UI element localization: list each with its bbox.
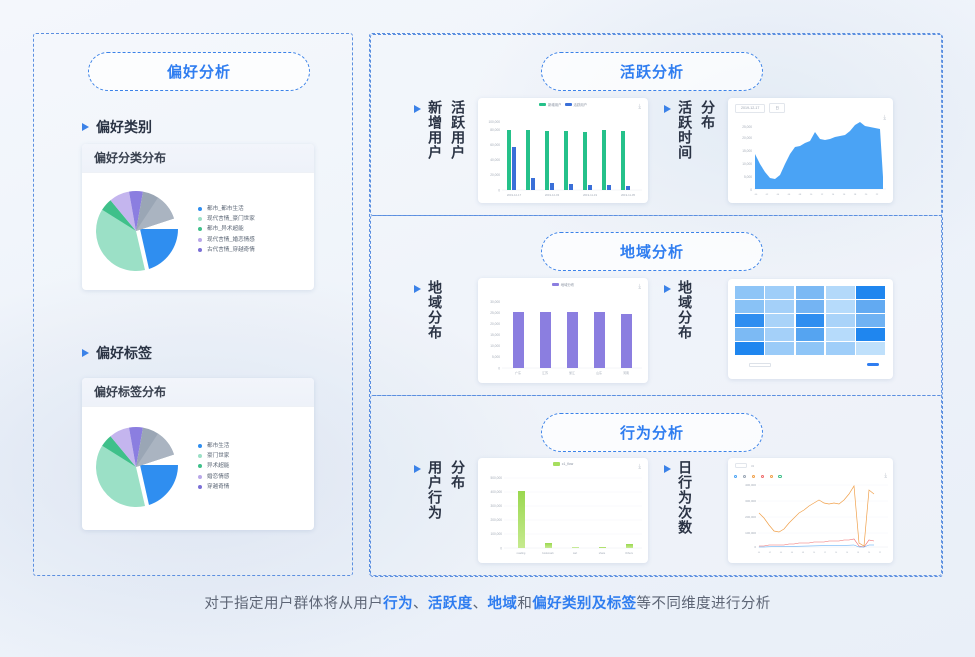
svg-text:Others: Others xyxy=(625,551,633,555)
triangle-bullet-icon xyxy=(664,285,671,293)
region-bar-chart: 地域分布 ⤓ 0 5,000 10,000 15,000 20,000 25,0… xyxy=(478,278,648,383)
svg-text:30,000: 30,000 xyxy=(490,300,500,304)
legend-item: 古代言情_穿越奇情 xyxy=(198,247,314,253)
svg-text:0: 0 xyxy=(498,367,500,371)
triangle-bullet-icon xyxy=(664,105,671,113)
svg-text:bookmark: bookmark xyxy=(542,551,554,555)
legend-entry[interactable] xyxy=(743,475,748,478)
active-time-area-chart: 2019-12-17 日 ⤓ 0 5,000 10,000 15,000 20,… xyxy=(728,98,893,203)
svg-text:10: 10 xyxy=(813,552,816,554)
svg-text:04: 04 xyxy=(780,552,783,554)
svg-text:0: 0 xyxy=(754,545,756,549)
caption-highlight: 偏好类别及标签 xyxy=(532,596,636,612)
legend-label: c1_flow xyxy=(562,462,574,466)
legend-item: 豪门世家 xyxy=(198,453,314,459)
heat-cell xyxy=(826,300,855,313)
triangle-bullet-icon xyxy=(664,465,671,473)
svg-text:2019-11-19: 2019-11-19 xyxy=(583,193,598,197)
svg-text:20,000: 20,000 xyxy=(490,173,500,177)
triangle-bullet-icon xyxy=(414,285,421,293)
svg-text:reading: reading xyxy=(517,551,526,555)
svg-text:share: share xyxy=(599,551,606,555)
heat-cell xyxy=(856,328,885,341)
bars-green xyxy=(518,491,633,548)
svg-text:80,000: 80,000 xyxy=(490,128,500,132)
legend-dot-icon xyxy=(198,464,202,468)
legend-item: 都市生活 xyxy=(198,443,314,449)
heat-cell xyxy=(735,286,764,299)
pie-svg xyxy=(82,407,194,519)
svg-text:0: 0 xyxy=(498,189,500,193)
chart-legend: ⤓ xyxy=(734,473,887,480)
heat-cell xyxy=(765,328,794,341)
svg-text:18: 18 xyxy=(857,552,860,554)
svg-text:02: 02 xyxy=(766,194,769,196)
calendar-icon[interactable]: ▭ xyxy=(751,464,754,468)
heat-cell xyxy=(826,342,855,355)
pie-slice-0 xyxy=(140,229,178,269)
preference-category-pie-chart xyxy=(82,173,194,290)
label-region-distribution-left: 地域分布 xyxy=(414,280,443,340)
bar-chart-svg: 0 5,000 10,000 15,000 20,000 25,000 30,0… xyxy=(478,278,648,383)
svg-text:100,000: 100,000 xyxy=(745,531,756,535)
heat-cell xyxy=(765,342,794,355)
svg-text:20,000: 20,000 xyxy=(742,136,752,140)
label-col: 地域分布 xyxy=(426,280,443,340)
legend-entry: 新增用户 xyxy=(539,102,562,107)
date-selector-row[interactable]: ▭ xyxy=(735,463,754,468)
label-col: 日行为次数 xyxy=(676,460,693,535)
bar-chart-svg: 0 20,000 40,000 60,000 80,000 100,000 xyxy=(478,98,648,203)
legend-label: 都市_异术超能 xyxy=(207,226,244,232)
legend-ring-icon xyxy=(743,475,746,478)
triangle-bullet-icon xyxy=(414,105,421,113)
svg-text:100,000: 100,000 xyxy=(488,120,500,124)
pie-slice-0 xyxy=(140,465,178,505)
svg-text:00: 00 xyxy=(755,194,758,196)
legend-label: 现代言情_婚恋情感 xyxy=(207,237,255,243)
area-fill xyxy=(755,122,883,189)
svg-text:22: 22 xyxy=(879,552,882,554)
svg-text:15,000: 15,000 xyxy=(490,333,500,337)
caption-part: 和 xyxy=(517,596,532,612)
download-icon[interactable]: ⤓ xyxy=(638,464,641,471)
legend-ring-icon xyxy=(778,475,781,478)
triangle-bullet-icon xyxy=(414,465,421,473)
svg-text:25,000: 25,000 xyxy=(742,125,752,129)
behavior-bar-chart-card: c1_flow ⤓ 0 100,000 200,000 xyxy=(478,458,648,563)
svg-text:山东: 山东 xyxy=(596,370,602,375)
legend-label: 古代言情_穿越奇情 xyxy=(207,247,255,253)
heat-cell xyxy=(826,314,855,327)
legend-ring-icon xyxy=(761,475,764,478)
legend-dot-icon xyxy=(198,227,202,231)
download-icon[interactable]: ⤓ xyxy=(638,284,641,291)
legend-entry[interactable] xyxy=(752,475,757,478)
heat-cell xyxy=(765,314,794,327)
legend-label: 现代言情_豪门世家 xyxy=(207,216,255,222)
legend-dot-icon xyxy=(198,238,202,242)
svg-text:25,000: 25,000 xyxy=(490,311,500,315)
legend-dot-icon xyxy=(198,485,202,489)
date-value[interactable]: 2019-12-17 xyxy=(735,104,765,113)
legend-label: 异术超能 xyxy=(207,463,229,469)
heat-cell xyxy=(735,300,764,313)
legend-label: 活跃用户 xyxy=(574,102,588,107)
label-daily-behavior-count: 日行为次数 xyxy=(664,460,693,535)
download-icon[interactable]: ⤓ xyxy=(883,115,886,122)
card-title: 偏好分类分布 xyxy=(82,144,314,173)
label-col: 用户行为 xyxy=(426,460,443,520)
heat-cell xyxy=(735,314,764,327)
svg-text:cart: cart xyxy=(573,551,578,555)
region-bar-chart-card: 地域分布 ⤓ 0 5,000 10,000 15,000 20,000 25,0… xyxy=(478,278,648,383)
caption-part: 对于指定用户群体将从用户 xyxy=(204,596,383,612)
heat-cell xyxy=(735,342,764,355)
bar-chart-svg: 0 100,000 200,000 300,000 400,000 500,00… xyxy=(478,458,648,563)
svg-text:20: 20 xyxy=(868,552,871,554)
bars-purple xyxy=(513,312,632,368)
label-text: 偏好标签 xyxy=(96,343,152,363)
legend-item: 穿越奇情 xyxy=(198,484,314,490)
label-active-time-distribution: 活跃时间 分布 xyxy=(664,100,716,160)
caption-highlight: 活跃度 xyxy=(428,596,473,612)
active-time-chart-card: 2019-12-17 日 ⤓ 0 5,000 10,000 15,000 20,… xyxy=(728,98,893,203)
svg-text:06: 06 xyxy=(788,194,791,196)
svg-text:5,000: 5,000 xyxy=(492,355,500,359)
heat-cell xyxy=(856,342,885,355)
legend-label: 都市生活 xyxy=(207,443,229,449)
legend-dot-icon xyxy=(198,217,202,221)
new-active-users-bar-chart: 新增用户 活跃用户 ⤓ 0 20,000 40,000 60,000 80,00… xyxy=(478,98,648,203)
svg-text:16: 16 xyxy=(843,194,846,196)
confirm-button[interactable] xyxy=(867,363,879,366)
behavior-analysis-title: 行为分析 xyxy=(541,413,763,452)
legend-entry[interactable] xyxy=(770,475,775,478)
caption-part: 、 xyxy=(473,596,488,612)
daily-behavior-line-chart: ▭ xyxy=(728,458,893,563)
svg-text:40,000: 40,000 xyxy=(490,158,500,162)
legend-dot-icon xyxy=(198,248,202,252)
svg-text:300,000: 300,000 xyxy=(745,499,756,503)
svg-text:0: 0 xyxy=(750,188,752,192)
legend-swatch-icon xyxy=(552,283,559,286)
heat-cell xyxy=(765,286,794,299)
triangle-bullet-icon xyxy=(82,123,89,131)
chart-legend: c1_flow xyxy=(478,462,648,466)
label-preference-tag: 偏好标签 xyxy=(82,343,152,363)
svg-text:10,000: 10,000 xyxy=(742,162,752,166)
chart-legend: 新增用户 活跃用户 xyxy=(478,102,648,107)
label-col: 活跃用户 xyxy=(449,100,466,160)
svg-text:500,000: 500,000 xyxy=(490,476,502,480)
legend-label: 穿越奇情 xyxy=(207,484,229,490)
date-value[interactable] xyxy=(735,463,747,468)
legend-ring-icon xyxy=(752,475,755,478)
legend-swatch-icon xyxy=(565,103,572,106)
svg-text:15,000: 15,000 xyxy=(742,149,752,153)
svg-text:广东: 广东 xyxy=(515,370,521,375)
legend-item: 婚恋情感 xyxy=(198,474,314,480)
heat-cell xyxy=(856,314,885,327)
caption-part: 、 xyxy=(413,596,428,612)
label-text: 偏好类别 xyxy=(96,117,152,137)
svg-text:0: 0 xyxy=(500,547,502,551)
preference-category-card: 偏好分类分布 都市_都市生活 现代言 xyxy=(82,144,314,290)
preference-category-legend: 都市_都市生活 现代言情_豪门世家 都市_异术超能 现代言情_婚恋情感 古代言情… xyxy=(194,206,314,258)
legend-dot-icon xyxy=(198,475,202,479)
legend-swatch-icon xyxy=(539,103,546,106)
filter-select[interactable] xyxy=(749,363,771,367)
legend-entry[interactable] xyxy=(734,475,739,478)
legend-swatch-icon xyxy=(553,462,560,465)
svg-text:10: 10 xyxy=(810,194,813,196)
chart-legend: 地域分布 xyxy=(478,282,648,287)
label-user-behavior-distribution: 用户行为 分布 xyxy=(414,460,466,520)
svg-text:200,000: 200,000 xyxy=(490,518,502,522)
legend-dot-icon xyxy=(198,454,202,458)
label-new-active-users: 新增用户 活跃用户 xyxy=(414,100,466,160)
svg-text:12: 12 xyxy=(821,194,824,196)
svg-text:02: 02 xyxy=(769,552,772,554)
svg-text:08: 08 xyxy=(799,194,802,196)
svg-text:300,000: 300,000 xyxy=(490,504,502,508)
series-reading xyxy=(759,486,874,546)
triangle-bullet-icon xyxy=(82,349,89,357)
heat-cell xyxy=(796,300,825,313)
heat-cell xyxy=(796,342,825,355)
legend-label: 都市_都市生活 xyxy=(207,206,244,212)
daily-behavior-line-card: ▭ xyxy=(728,458,893,563)
heat-cell xyxy=(765,300,794,313)
active-analysis-title: 活跃分析 xyxy=(541,52,763,91)
legend-label: 豪门世家 xyxy=(207,453,229,459)
label-col: 新增用户 xyxy=(426,100,443,160)
svg-text:12: 12 xyxy=(824,552,827,554)
legend-dot-icon xyxy=(198,207,202,211)
svg-text:18: 18 xyxy=(854,194,857,196)
heat-cell xyxy=(796,328,825,341)
region-analysis-title: 地域分析 xyxy=(541,232,763,271)
svg-text:10,000: 10,000 xyxy=(490,344,500,348)
svg-text:5,000: 5,000 xyxy=(744,175,752,179)
svg-text:河南: 河南 xyxy=(623,370,629,375)
svg-text:江苏: 江苏 xyxy=(542,370,548,375)
preference-analysis-title: 偏好分析 xyxy=(88,52,310,91)
svg-text:14: 14 xyxy=(832,194,835,196)
legend-label: 婚恋情感 xyxy=(207,474,229,480)
label-region-distribution-right: 地域分布 xyxy=(664,280,693,340)
legend-item: 都市_都市生活 xyxy=(198,206,314,212)
svg-text:2019-11-05: 2019-11-05 xyxy=(621,193,636,197)
svg-text:08: 08 xyxy=(802,552,805,554)
legend-entry: 活跃用户 xyxy=(565,102,588,107)
download-icon[interactable]: ⤓ xyxy=(884,473,887,480)
svg-text:2019-12-03: 2019-12-03 xyxy=(545,193,560,197)
svg-text:20,000: 20,000 xyxy=(490,322,500,326)
heatmap-controls xyxy=(732,363,885,367)
legend-entry[interactable] xyxy=(778,475,783,478)
region-heatmap xyxy=(728,279,893,379)
svg-text:2019-12-17: 2019-12-17 xyxy=(507,193,522,197)
preference-tag-pie-chart xyxy=(82,407,194,530)
heat-cell xyxy=(796,314,825,327)
heat-cell xyxy=(856,286,885,299)
svg-text:14: 14 xyxy=(835,552,838,554)
heat-cell xyxy=(735,328,764,341)
label-preference-category: 偏好类别 xyxy=(82,117,152,137)
svg-text:16: 16 xyxy=(846,552,849,554)
legend-label: 新增用户 xyxy=(548,102,562,107)
card-title: 偏好标签分布 xyxy=(82,378,314,407)
svg-text:60,000: 60,000 xyxy=(490,143,500,147)
label-col: 分布 xyxy=(449,460,466,520)
label-col: 活跃时间 xyxy=(676,100,693,160)
svg-text:浙江: 浙江 xyxy=(569,370,575,375)
behavior-bar-chart: c1_flow ⤓ 0 100,000 200,000 xyxy=(478,458,648,563)
download-icon[interactable]: ⤓ xyxy=(638,104,641,111)
svg-text:400,000: 400,000 xyxy=(490,490,502,494)
legend-dot-icon xyxy=(198,444,202,448)
caption-part: 等不同维度进行分析 xyxy=(637,596,771,612)
footer-caption: 对于指定用户群体将从用户行为、活跃度、地域和偏好类别及标签等不同维度进行分析 xyxy=(0,592,975,613)
range-selector[interactable]: 日 xyxy=(769,103,785,113)
pie-svg xyxy=(82,173,194,285)
svg-text:00: 00 xyxy=(758,552,761,554)
caption-highlight: 地域 xyxy=(488,596,518,612)
heat-cell xyxy=(796,286,825,299)
legend-label: 地域分布 xyxy=(561,282,575,287)
preference-tag-legend: 都市生活 豪门世家 异术超能 婚恋情感 穿越奇情 xyxy=(194,443,314,495)
legend-item: 异术超能 xyxy=(198,463,314,469)
svg-text:06: 06 xyxy=(791,552,794,554)
heat-cell xyxy=(826,328,855,341)
svg-text:200,000: 200,000 xyxy=(745,515,756,519)
svg-text:04: 04 xyxy=(777,194,780,196)
label-col: 地域分布 xyxy=(676,280,693,340)
preference-tag-card: 偏好标签分布 都市生活 豪门世家 xyxy=(82,378,314,530)
new-active-users-chart-card: 新增用户 活跃用户 ⤓ 0 20,000 40,000 60,000 80,00… xyxy=(478,98,648,203)
area-chart-svg: 0 5,000 10,000 15,000 20,000 25,000 0002… xyxy=(728,98,893,203)
label-col: 分布 xyxy=(699,100,716,160)
legend-item: 都市_异术超能 xyxy=(198,226,314,232)
bars-green xyxy=(507,130,625,190)
region-heatmap-card xyxy=(728,279,893,379)
heat-cell xyxy=(856,300,885,313)
svg-text:20: 20 xyxy=(865,194,868,196)
legend-entry: 地域分布 xyxy=(552,282,575,287)
legend-ring-icon xyxy=(734,475,737,478)
svg-text:22: 22 xyxy=(876,194,879,196)
svg-text:400,000: 400,000 xyxy=(745,483,756,487)
caption-highlight: 行为 xyxy=(383,596,413,612)
legend-ring-icon xyxy=(770,475,773,478)
date-selector-row[interactable]: 2019-12-17 日 xyxy=(735,103,785,113)
svg-text:100,000: 100,000 xyxy=(490,532,502,536)
legend-item: 现代言情_婚恋情感 xyxy=(198,237,314,243)
heatmap-grid xyxy=(735,286,885,355)
legend-entry: c1_flow xyxy=(553,462,574,466)
legend-entry[interactable] xyxy=(761,475,766,478)
legend-item: 现代言情_豪门世家 xyxy=(198,216,314,222)
heat-cell xyxy=(826,286,855,299)
